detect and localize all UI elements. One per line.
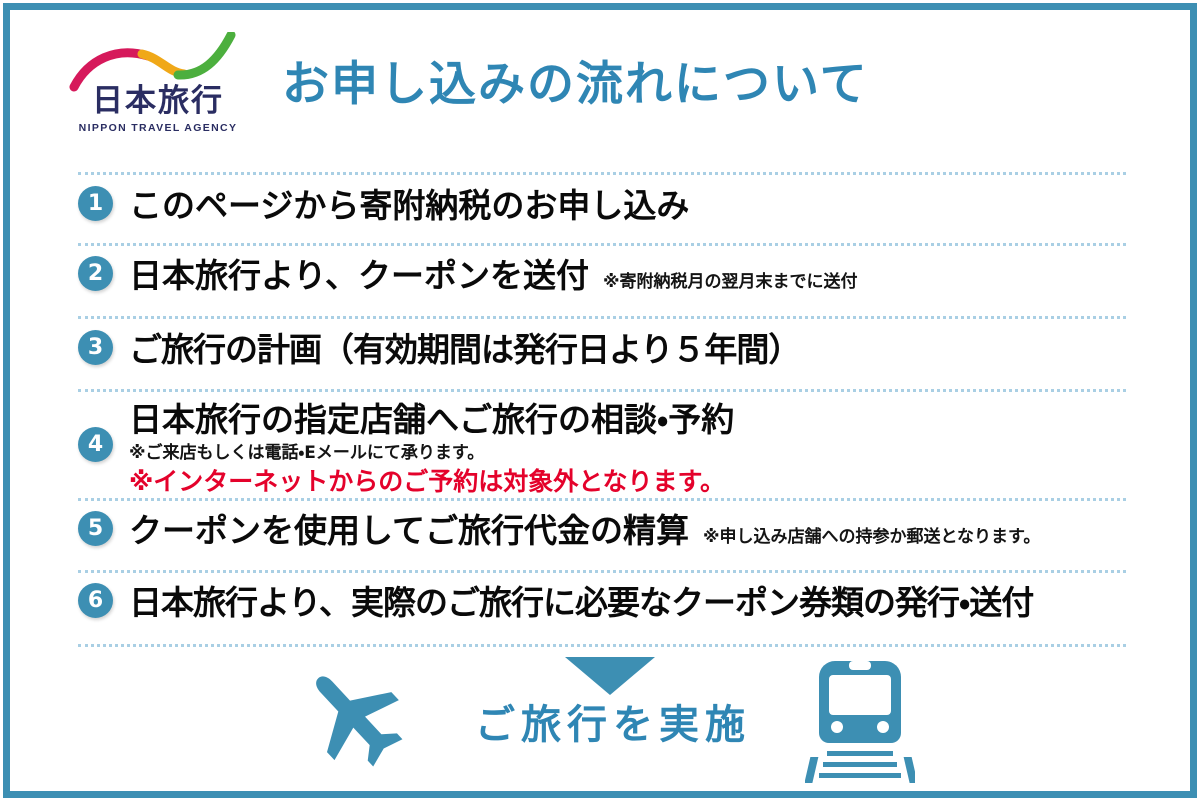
step-number-badge: 3 [78, 330, 113, 365]
header: 日本旅行 NIPPON TRAVEL AGENCY お申し込みの流れについて [10, 10, 1190, 150]
step-title: 日本旅行より、クーポンを送付 [129, 256, 589, 296]
footer-arrow-block: ご旅行を実施 [460, 657, 760, 749]
divider [78, 316, 1126, 319]
step-number-badge: 4 [78, 427, 113, 462]
step-content: 日本旅行より、クーポンを送付 ※寄附納税月の翌月末までに送付 [129, 256, 1138, 296]
step-content: このページから寄附納税のお申し込み [129, 186, 1138, 226]
step-item: 3 ご旅行の計画（有効期間は発行日より５年間） [78, 330, 1138, 370]
page-content: 日本旅行 NIPPON TRAVEL AGENCY お申し込みの流れについて 1… [10, 10, 1190, 791]
footer: ご旅行を実施 [10, 655, 1190, 791]
step-item: 6 日本旅行より、実際のご旅行に必要なクーポン券類の発行・送付 [78, 583, 1138, 623]
step-item: 4 日本旅行の指定店舗へご旅行の相談・予約 ※ご来店もしくは電話・Eメールにて承… [78, 400, 1138, 497]
step-content: クーポンを使用してご旅行代金の精算 ※申し込み店舗への持参か郵送となります。 [129, 511, 1138, 551]
down-triangle-icon [565, 657, 655, 695]
flow-infographic: 日本旅行 NIPPON TRAVEL AGENCY お申し込みの流れについて 1… [0, 0, 1200, 801]
divider [78, 172, 1126, 175]
step-note: ※寄附納税月の翌月末までに送付 [603, 270, 858, 294]
step-item: 2 日本旅行より、クーポンを送付 ※寄附納税月の翌月末までに送付 [78, 256, 1138, 296]
step-content: 日本旅行の指定店舗へご旅行の相談・予約 ※ご来店もしくは電話・Eメールにて承りま… [129, 400, 1138, 497]
divider [78, 243, 1126, 246]
step-title: 日本旅行の指定店舗へご旅行の相談・予約 [129, 400, 734, 440]
airplane-icon [298, 655, 418, 775]
footer-label: ご旅行を実施 [460, 701, 760, 749]
step-title: ご旅行の計画（有効期間は発行日より５年間） [129, 330, 800, 370]
divider [78, 644, 1126, 647]
logo-japanese-name: 日本旅行 [76, 84, 240, 118]
page-title: お申し込みの流れについて [282, 58, 869, 112]
divider [78, 389, 1126, 392]
step-number-badge: 2 [78, 256, 113, 291]
step-title: クーポンを使用してご旅行代金の精算 [129, 511, 689, 551]
divider [78, 570, 1126, 573]
step-content: 日本旅行より、実際のご旅行に必要なクーポン券類の発行・送付 [129, 583, 1138, 623]
step-number-badge: 5 [78, 511, 113, 546]
logo-english-name: NIPPON TRAVEL AGENCY [68, 122, 248, 134]
step-title: 日本旅行より、実際のご旅行に必要なクーポン券類の発行・送付 [129, 583, 1033, 623]
step-title: このページから寄附納税のお申し込み [129, 186, 689, 226]
step-warning: ※インターネットからのご予約は対象外となります。 [129, 466, 1138, 497]
step-number-badge: 6 [78, 583, 113, 618]
train-icon [805, 659, 915, 784]
divider [78, 498, 1126, 501]
step-content: ご旅行の計画（有効期間は発行日より５年間） [129, 330, 1138, 370]
step-number-badge: 1 [78, 186, 113, 221]
step-subnote: ※ご来店もしくは電話・Eメールにて承ります。 [129, 442, 1138, 465]
step-note: ※申し込み店舗への持参か郵送となります。 [703, 525, 1040, 549]
brand-logo: 日本旅行 NIPPON TRAVEL AGENCY [68, 32, 248, 142]
step-item: 1 このページから寄附納税のお申し込み [78, 186, 1138, 226]
step-item: 5 クーポンを使用してご旅行代金の精算 ※申し込み店舗への持参か郵送となります。 [78, 511, 1138, 551]
